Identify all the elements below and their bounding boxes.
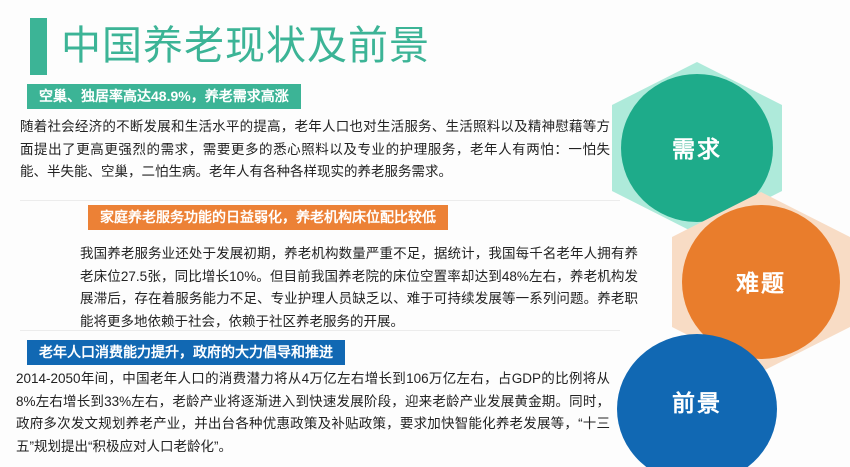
section-header-3: 老年人口消费能力提升，政府的大力倡导和推进 <box>27 340 345 365</box>
section-body-3: 2014-2050年间，中国老年人口的消费潜力将从4万亿左右增长到106万亿左右… <box>16 368 610 458</box>
section-body-1: 随着社会经济的不断发展和生活水平的提高，老年人口也对生活服务、生活照料以及精神慰… <box>20 116 610 184</box>
slide-canvas: 中国养老现状及前景 空巢、独居率高达48.9%，养老需求高涨 随着社会经济的不断… <box>0 0 850 467</box>
badge-prospects-label: 前景 <box>617 384 777 418</box>
section-divider-1 <box>20 200 620 201</box>
title-accent-bar <box>30 18 47 75</box>
page-title: 中国养老现状及前景 <box>30 16 430 76</box>
badge-problems-label: 难题 <box>672 264 850 298</box>
section-body-2: 我国养老服务业还处于发展初期，养老机构数量严重不足，据统计，我国每千名老年人拥有… <box>80 243 638 333</box>
section-header-2: 家庭养老服务功能的日益弱化，养老机构床位配比较低 <box>88 205 448 230</box>
badge-needs-label: 需求 <box>612 130 782 164</box>
title-text: 中国养老现状及前景 <box>61 23 430 69</box>
badge-prospects: 前景 <box>617 334 777 467</box>
section-header-1: 空巢、独居率高达48.9%，养老需求高涨 <box>27 84 301 109</box>
